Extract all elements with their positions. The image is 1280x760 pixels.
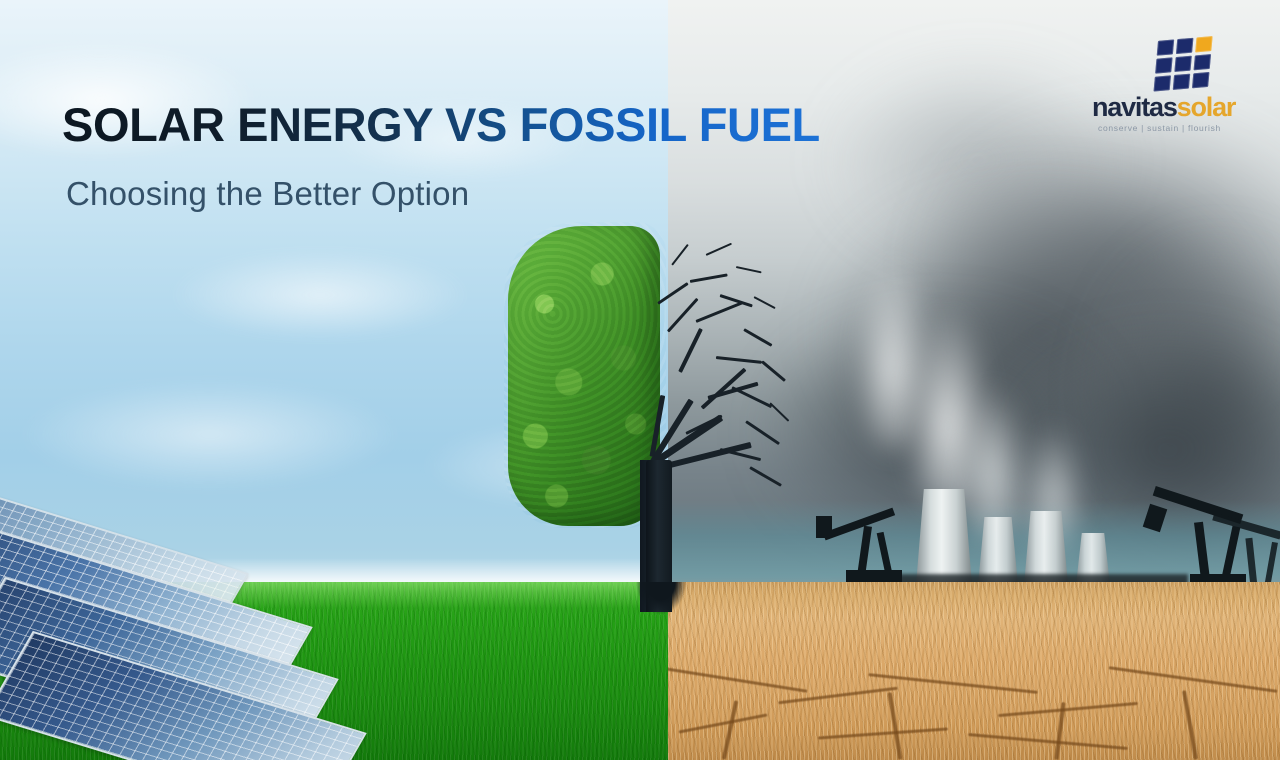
oil-pumpjack (1208, 516, 1280, 588)
tree-green-canopy (508, 226, 660, 526)
page-title: SOLAR ENERGY VS FOSSIL FUEL (62, 97, 820, 152)
page-subtitle: Choosing the Better Option (66, 175, 469, 213)
cloud-wisp (20, 380, 400, 490)
solar-panel-icon (1153, 35, 1220, 94)
brand-name-secondary: solar (1177, 92, 1236, 122)
brand-wordmark: navitassolar (1092, 92, 1235, 123)
tree-dead-branches (650, 210, 800, 510)
steam-plume (958, 380, 1028, 540)
oil-pumpjack (816, 512, 908, 588)
brand-name-primary: navitas (1092, 92, 1177, 122)
cloud-wisp (170, 250, 470, 340)
brand-tagline: conserve | sustain | flourish (1098, 123, 1221, 133)
cooling-tower (916, 489, 972, 585)
tree-root-flare (636, 582, 686, 614)
hero-banner: SOLAR ENERGY VS FOSSIL FUEL Choosing the… (0, 0, 1280, 760)
solar-panel-array (0, 490, 330, 740)
split-tree (500, 210, 800, 610)
brand-logo[interactable]: navitassolar conserve | sustain | flouri… (1092, 38, 1280, 146)
